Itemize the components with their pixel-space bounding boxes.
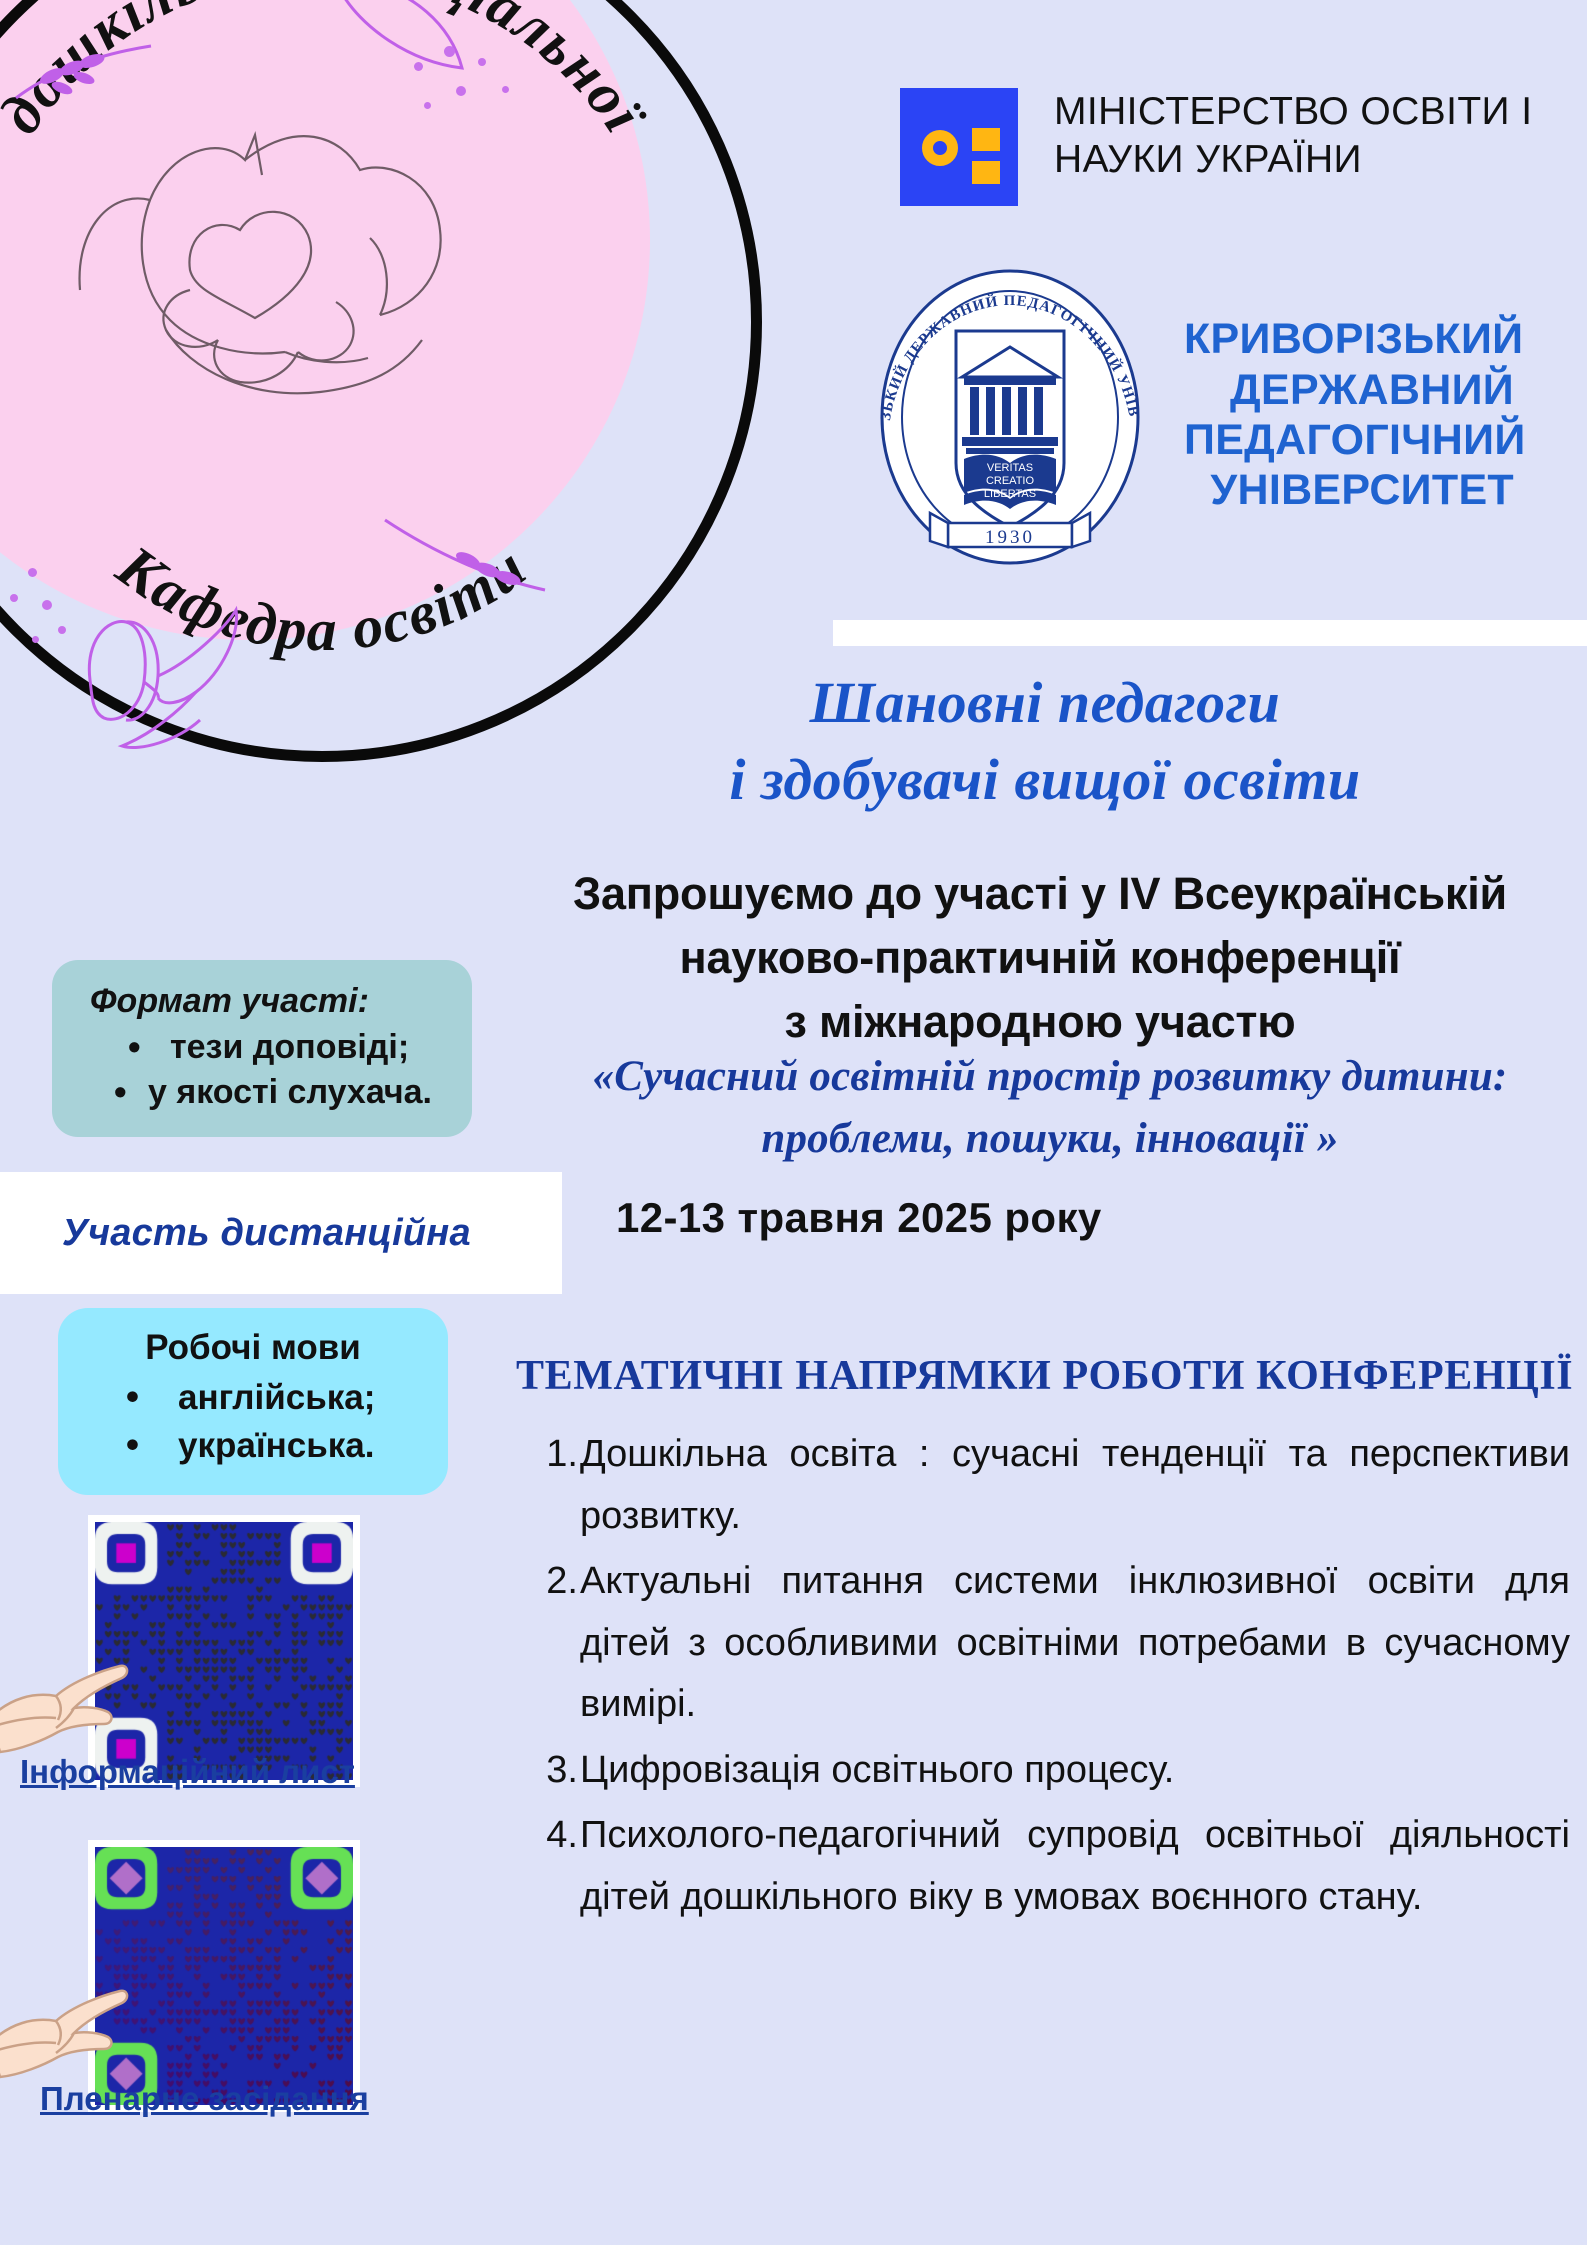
ministry-logo-square-top [972, 128, 1000, 151]
theme-text: Дошкільна освіта : сучасні тенденції та … [580, 1424, 1570, 1547]
remote-participation-band: Участь дистанційна [0, 1172, 562, 1294]
theme-text: Психолого-педагогічний супровід освітньо… [580, 1805, 1570, 1928]
hands-heart-icon [40, 40, 490, 460]
dot-cluster-decoration [4, 560, 94, 670]
languages-box-list: англійська; українська. [74, 1374, 432, 1471]
poster-root: дошкільної і спеціальної Кафедра освіти [0, 0, 1587, 2245]
greeting-line-2: і здобувачі вищої освіти [520, 742, 1570, 819]
list-item: 4. Психолого-педагогічний супровід освіт… [540, 1805, 1570, 1928]
seal-year: 1930 [985, 527, 1035, 548]
qr-canvas[interactable] [95, 1522, 353, 1780]
university-block: КРИВОРІЗЬКИЙ ДЕРЖАВНИЙ ПЕДАГОГІЧНИЙ УНІВ… [860, 265, 1514, 565]
list-item: англійська; [126, 1374, 432, 1422]
invitation-line-2: науково-практичній конференції [500, 926, 1580, 990]
theme-text: Актуальні питання системи інклюзивної ос… [580, 1551, 1570, 1736]
seal-motto-libertas: LIBERTAS [984, 488, 1036, 500]
invitation-line-1: Запрошуємо до участі у IV Всеукраїнській [500, 862, 1580, 926]
conference-title-line-2: проблеми, пошуки, інновації » [520, 1108, 1580, 1170]
list-item: 2. Актуальні питання системи інклюзивної… [540, 1551, 1570, 1736]
list-item: 1. Дошкільна освіта : сучасні тенденції … [540, 1424, 1570, 1547]
invitation-block: Запрошуємо до участі у IV Всеукраїнській… [500, 862, 1580, 1054]
conference-title-block: «Сучасний освітній простір розвитку дити… [520, 1046, 1580, 1171]
ministry-of-education-logo [900, 88, 1018, 206]
list-item: тези доповіді; [114, 1025, 452, 1070]
remote-participation-text: Участь дистанційна [62, 1212, 471, 1255]
theme-number: 4. [540, 1805, 578, 1867]
conference-title-line-1: «Сучасний освітній простір розвитку дити… [520, 1046, 1580, 1108]
pointing-hand-icon [0, 1650, 130, 1770]
seal-motto-veritas: VERITAS [987, 462, 1033, 474]
kdpu-seal: КРИВОРІЗЬКИЙ ДЕРЖАВНИЙ ПЕДАГОГІЧНИЙ УНІВ… [860, 265, 1160, 565]
floral-sprig-icon [380, 508, 550, 608]
themes-heading: ТЕМАТИЧНІ НАПРЯМКИ РОБОТИ КОНФЕРЕНЦІЇ [516, 1352, 1581, 1400]
white-divider-band [833, 620, 1587, 646]
pointing-hand-icon [0, 1975, 130, 2095]
greeting-line-1: Шановні педагоги [520, 665, 1570, 742]
theme-text: Цифровізація освітнього процесу. [580, 1740, 1570, 1802]
languages-box-title: Робочі мови [74, 1328, 432, 1368]
ministry-block: МІНІСТЕРСТВО ОСВІТИ І НАУКИ УКРАЇНИ [900, 88, 1574, 206]
qr-canvas[interactable] [95, 1847, 353, 2105]
format-box-list: тези доповіді; у якості слухача. [72, 1025, 452, 1115]
tulip-outline-icon [60, 600, 290, 770]
format-box-title: Формат участі: [90, 982, 452, 1021]
university-name: КРИВОРІЗЬКИЙ ДЕРЖАВНИЙ ПЕДАГОГІЧНИЙ УНІВ… [1184, 314, 1514, 515]
theme-number: 2. [540, 1551, 578, 1613]
languages-box: Робочі мови англійська; українська. [58, 1308, 448, 1495]
list-item: 3. Цифровізація освітнього процесу. [540, 1740, 1570, 1802]
ministry-logo-ring [922, 130, 958, 166]
list-item: українська. [126, 1422, 432, 1470]
ministry-name: МІНІСТЕРСТВО ОСВІТИ І НАУКИ УКРАЇНИ [1054, 88, 1574, 183]
theme-number: 3. [540, 1740, 578, 1802]
seal-motto-creatio: CREATIO [986, 475, 1035, 487]
list-item: у якості слухача. [114, 1070, 452, 1115]
themes-list: 1. Дошкільна освіта : сучасні тенденції … [540, 1424, 1570, 1932]
ministry-logo-square-bottom [972, 161, 1000, 184]
conference-date: 12-13 травня 2025 року [616, 1194, 1102, 1242]
format-box: Формат участі: тези доповіді; у якості с… [52, 960, 472, 1137]
invitation-line-3: з міжнародною участю [500, 990, 1580, 1054]
theme-number: 1. [540, 1424, 578, 1486]
greeting-block: Шановні педагоги і здобувачі вищої освіт… [520, 665, 1570, 818]
